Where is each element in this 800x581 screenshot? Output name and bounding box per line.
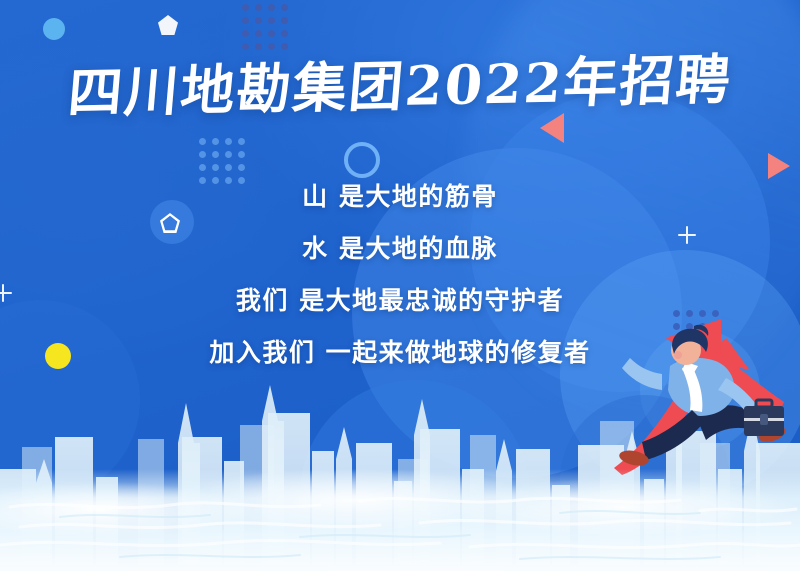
slogan-line-4: 加入我们 一起来做地球的修复者 — [0, 340, 800, 365]
bottom-white-edge — [0, 571, 800, 581]
cloud-streaks — [0, 487, 800, 573]
decor-triangle-left-icon — [540, 113, 564, 143]
decor-ring-icon — [344, 142, 380, 178]
recruitment-poster: 四川地勘集团2022年招聘 山 是大地的筋骨 水 是大地的血脉 我们 是大地最忠… — [0, 0, 800, 581]
decor-triangle-right-icon — [768, 153, 790, 179]
decor-dot-grid-top — [242, 4, 288, 50]
slogan-line-3: 我们 是大地最忠诚的守护者 — [0, 288, 800, 313]
slogan-block: 山 是大地的筋骨 水 是大地的血脉 我们 是大地最忠诚的守护者 加入我们 一起来… — [0, 184, 800, 365]
slogan-line-2: 水 是大地的血脉 — [0, 236, 800, 261]
slogan-line-1: 山 是大地的筋骨 — [0, 184, 800, 209]
decor-dot-grid-middle — [199, 138, 245, 184]
decor-cyan-dot — [43, 18, 65, 40]
